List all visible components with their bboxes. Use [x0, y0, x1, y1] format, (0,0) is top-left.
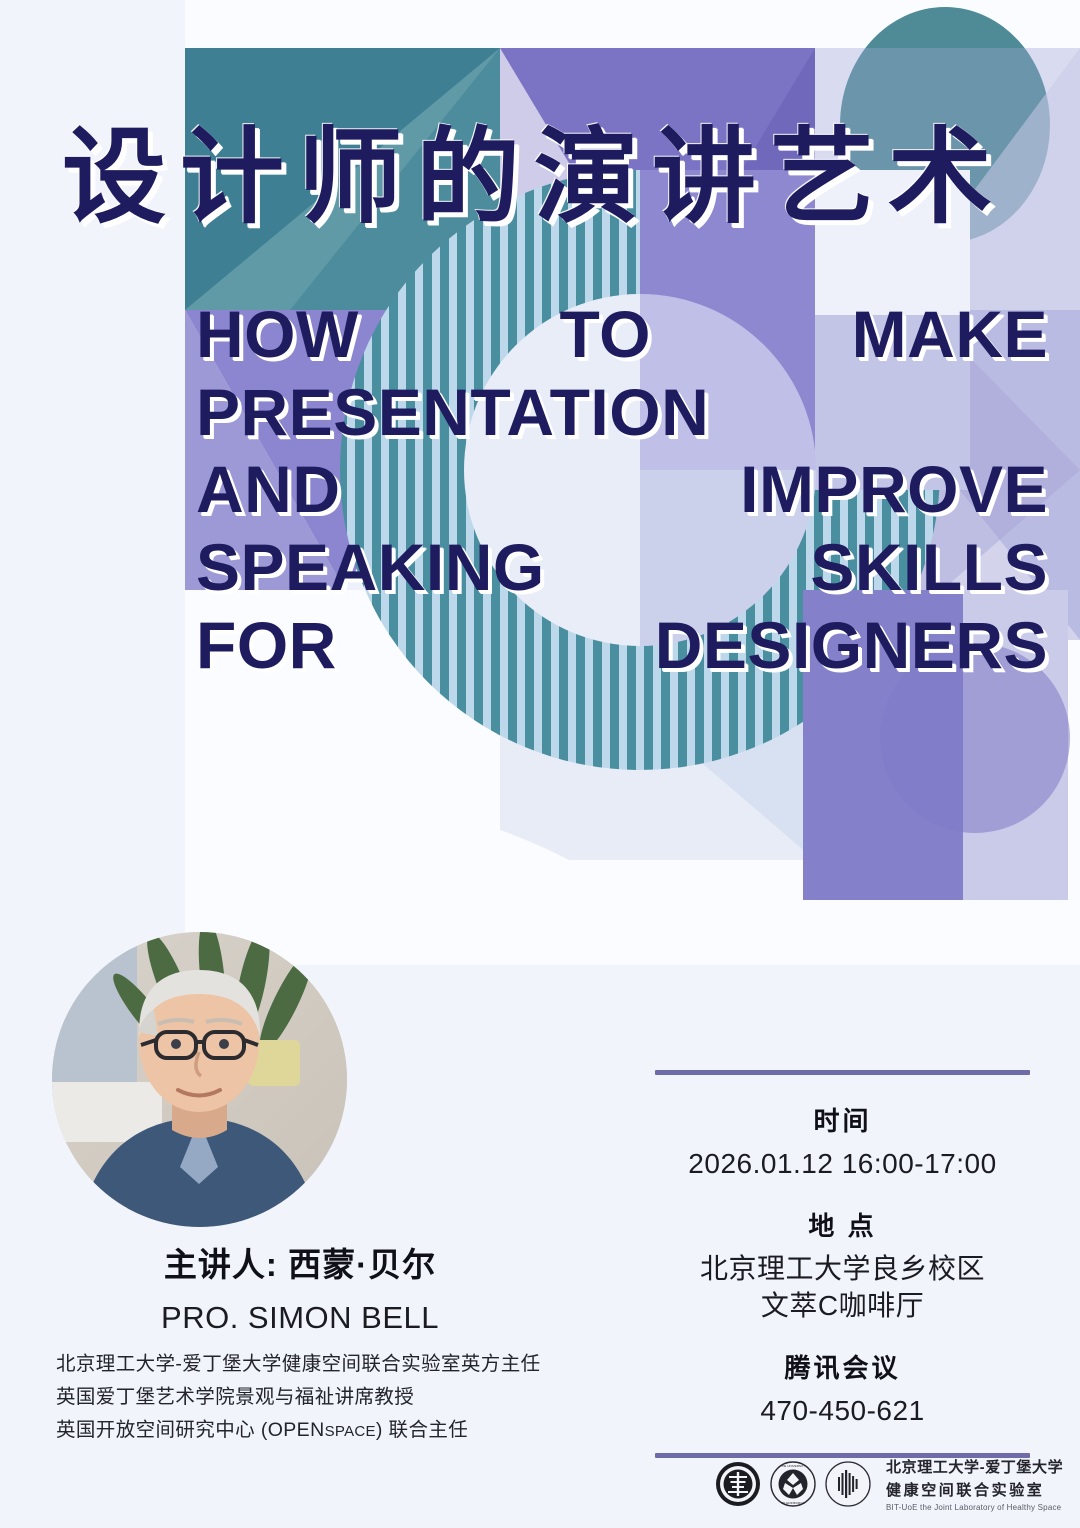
detail-meeting: 腾讯会议 470-450-621 — [655, 1348, 1030, 1429]
speaker-name-block: 主讲人: 西蒙·贝尔 PRO. SIMON BELL — [0, 1238, 600, 1336]
bio-openspace-smallcaps: SPACE — [325, 1423, 376, 1440]
speaker-name-en: PRO. SIMON BELL — [0, 1300, 600, 1336]
bio-line: 北京理工大学-爱丁堡大学健康空间联合实验室英方主任 — [56, 1348, 616, 1381]
bio-openspace-prefix: 英国开放空间研究中心 (OPEN — [56, 1419, 325, 1441]
title-word: SKILLS — [810, 533, 1048, 602]
place-label: 地 点 — [655, 1206, 1030, 1243]
place-value-line1: 北京理工大学良乡校区 — [655, 1250, 1030, 1287]
meeting-id-value[interactable]: 470-450-621 — [655, 1392, 1030, 1429]
svg-text:THE UNIVERSITY: THE UNIVERSITY — [780, 1464, 806, 1468]
meeting-label: 腾讯会议 — [655, 1348, 1030, 1385]
title-word: HOW — [196, 300, 359, 369]
speaker-portrait-photo — [52, 932, 347, 1227]
lab-name-cn-line2: 健康空间联合实验室 — [886, 1479, 1063, 1500]
bio-line-openspace: 英国开放空间研究中心 (OPENSPACE) 联合主任 — [56, 1414, 616, 1448]
lab-name-cn-line1: 北京理工大学-爱丁堡大学 — [886, 1456, 1063, 1477]
bit-university-seal-logo — [715, 1461, 761, 1507]
title-word: IMPROVE — [740, 455, 1048, 524]
bio-openspace-suffix: ) 联合主任 — [376, 1419, 468, 1441]
detail-time: 时间 2026.01.12 16:00-17:00 — [655, 1101, 1030, 1182]
english-title-line: AND IMPROVE — [196, 455, 1048, 524]
title-word: DESIGNERS — [655, 611, 1048, 680]
svg-text:OF EDINBURGH: OF EDINBURGH — [781, 1501, 805, 1505]
title-word: FOR — [196, 611, 337, 680]
title-word: AND — [196, 455, 341, 524]
title-word: TO — [560, 300, 651, 369]
english-title-line: SPEAKING SKILLS — [196, 533, 1048, 602]
detail-place: 地 点 北京理工大学良乡校区 文萃C咖啡厅 — [655, 1206, 1030, 1324]
healthy-space-lab-logo — [825, 1461, 871, 1507]
english-title-line: HOW TO MAKE — [196, 300, 1048, 369]
time-label: 时间 — [655, 1101, 1030, 1138]
chinese-title: 设计师的演讲艺术 — [62, 92, 1062, 243]
time-value: 2026.01.12 16:00-17:00 — [655, 1145, 1030, 1182]
lab-name-text: 北京理工大学-爱丁堡大学 健康空间联合实验室 BIT-UoE the Joint… — [886, 1456, 1063, 1512]
details-divider-top — [655, 1070, 1030, 1075]
event-details-panel: 时间 2026.01.12 16:00-17:00 地 点 北京理工大学良乡校区… — [655, 1070, 1030, 1458]
footer-logo-bar: THE UNIVERSITY OF EDINBURGH 北京理工大学-爱丁堡大学 — [715, 1456, 1063, 1512]
english-title: HOW TO MAKE PRESENTATION AND IMPROVE SPE… — [196, 300, 1048, 688]
english-title-line: FOR DESIGNERS — [196, 611, 1048, 680]
english-title-line: PRESENTATION — [196, 378, 1048, 447]
speaker-bio: 北京理工大学-爱丁堡大学健康空间联合实验室英方主任 英国爱丁堡艺术学院景观与福祉… — [56, 1348, 616, 1448]
place-value-line2: 文萃C咖啡厅 — [655, 1287, 1030, 1324]
lab-name-en: BIT-UoE the Joint Laboratory of Healthy … — [886, 1503, 1063, 1512]
title-word: MAKE — [852, 300, 1048, 369]
speaker-name-cn: 主讲人: 西蒙·贝尔 — [0, 1238, 600, 1286]
title-word: PRESENTATION — [196, 378, 709, 447]
place-value: 北京理工大学良乡校区 文萃C咖啡厅 — [655, 1250, 1030, 1324]
title-word: SPEAKING — [196, 533, 545, 602]
edinburgh-university-seal-logo: THE UNIVERSITY OF EDINBURGH — [770, 1461, 816, 1507]
bio-line: 英国爱丁堡艺术学院景观与福祉讲席教授 — [56, 1381, 616, 1414]
poster-root: 设计师的演讲艺术 HOW TO MAKE PRESENTATION AND IM… — [0, 0, 1080, 1528]
